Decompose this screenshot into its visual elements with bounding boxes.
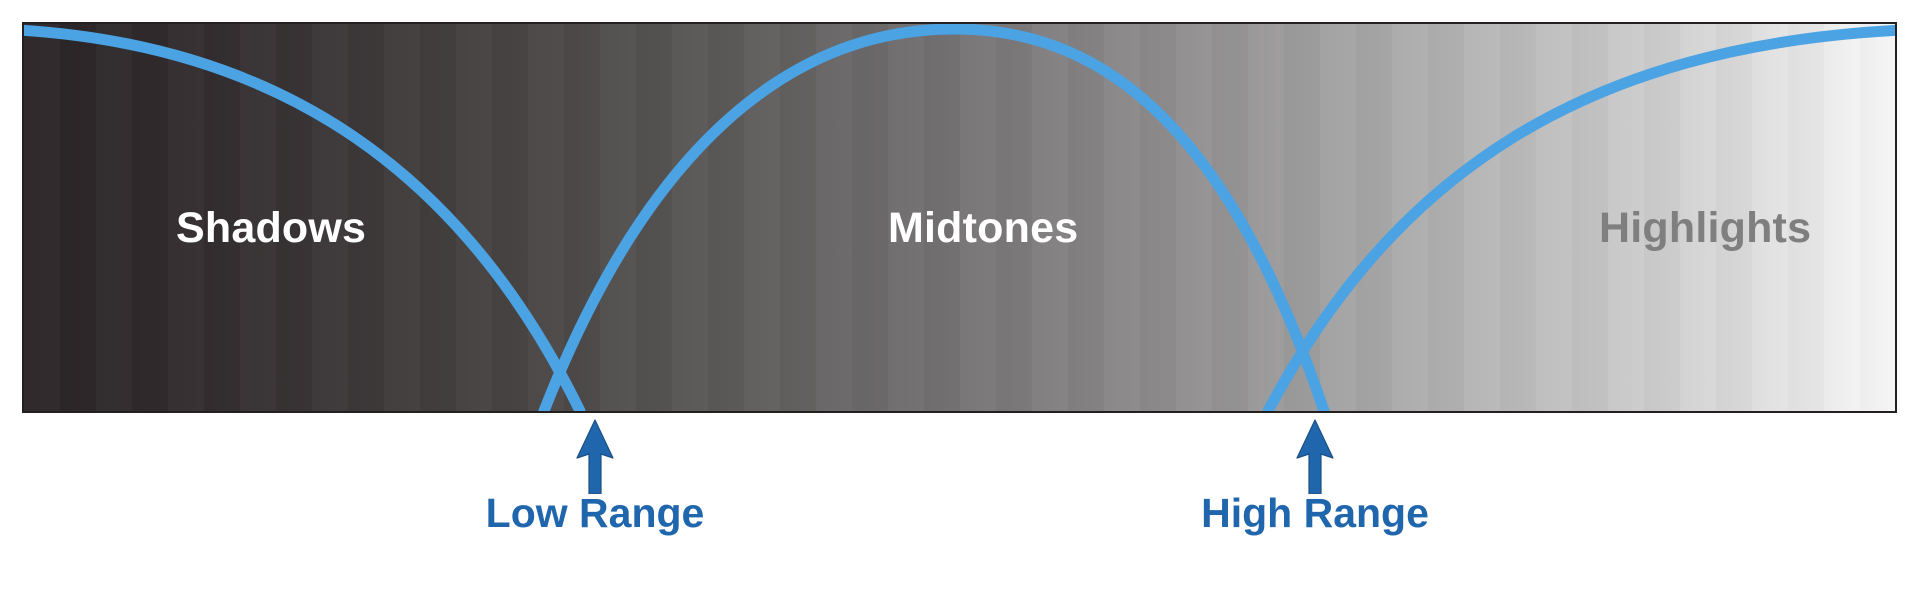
zone-label-shadows: Shadows (176, 207, 366, 250)
tonal-range-diagram: Shadows Midtones Highlights Low Range Hi… (0, 0, 1919, 598)
zone-label-highlights: Highlights (1599, 207, 1811, 250)
tone-gradient-bar: Shadows Midtones Highlights (22, 22, 1897, 413)
high-range-label: High Range (1201, 493, 1429, 534)
low-range-label: Low Range (486, 493, 705, 534)
zone-label-midtones: Midtones (888, 207, 1078, 250)
up-arrow-icon (572, 418, 618, 494)
up-arrow-icon (1292, 418, 1338, 494)
